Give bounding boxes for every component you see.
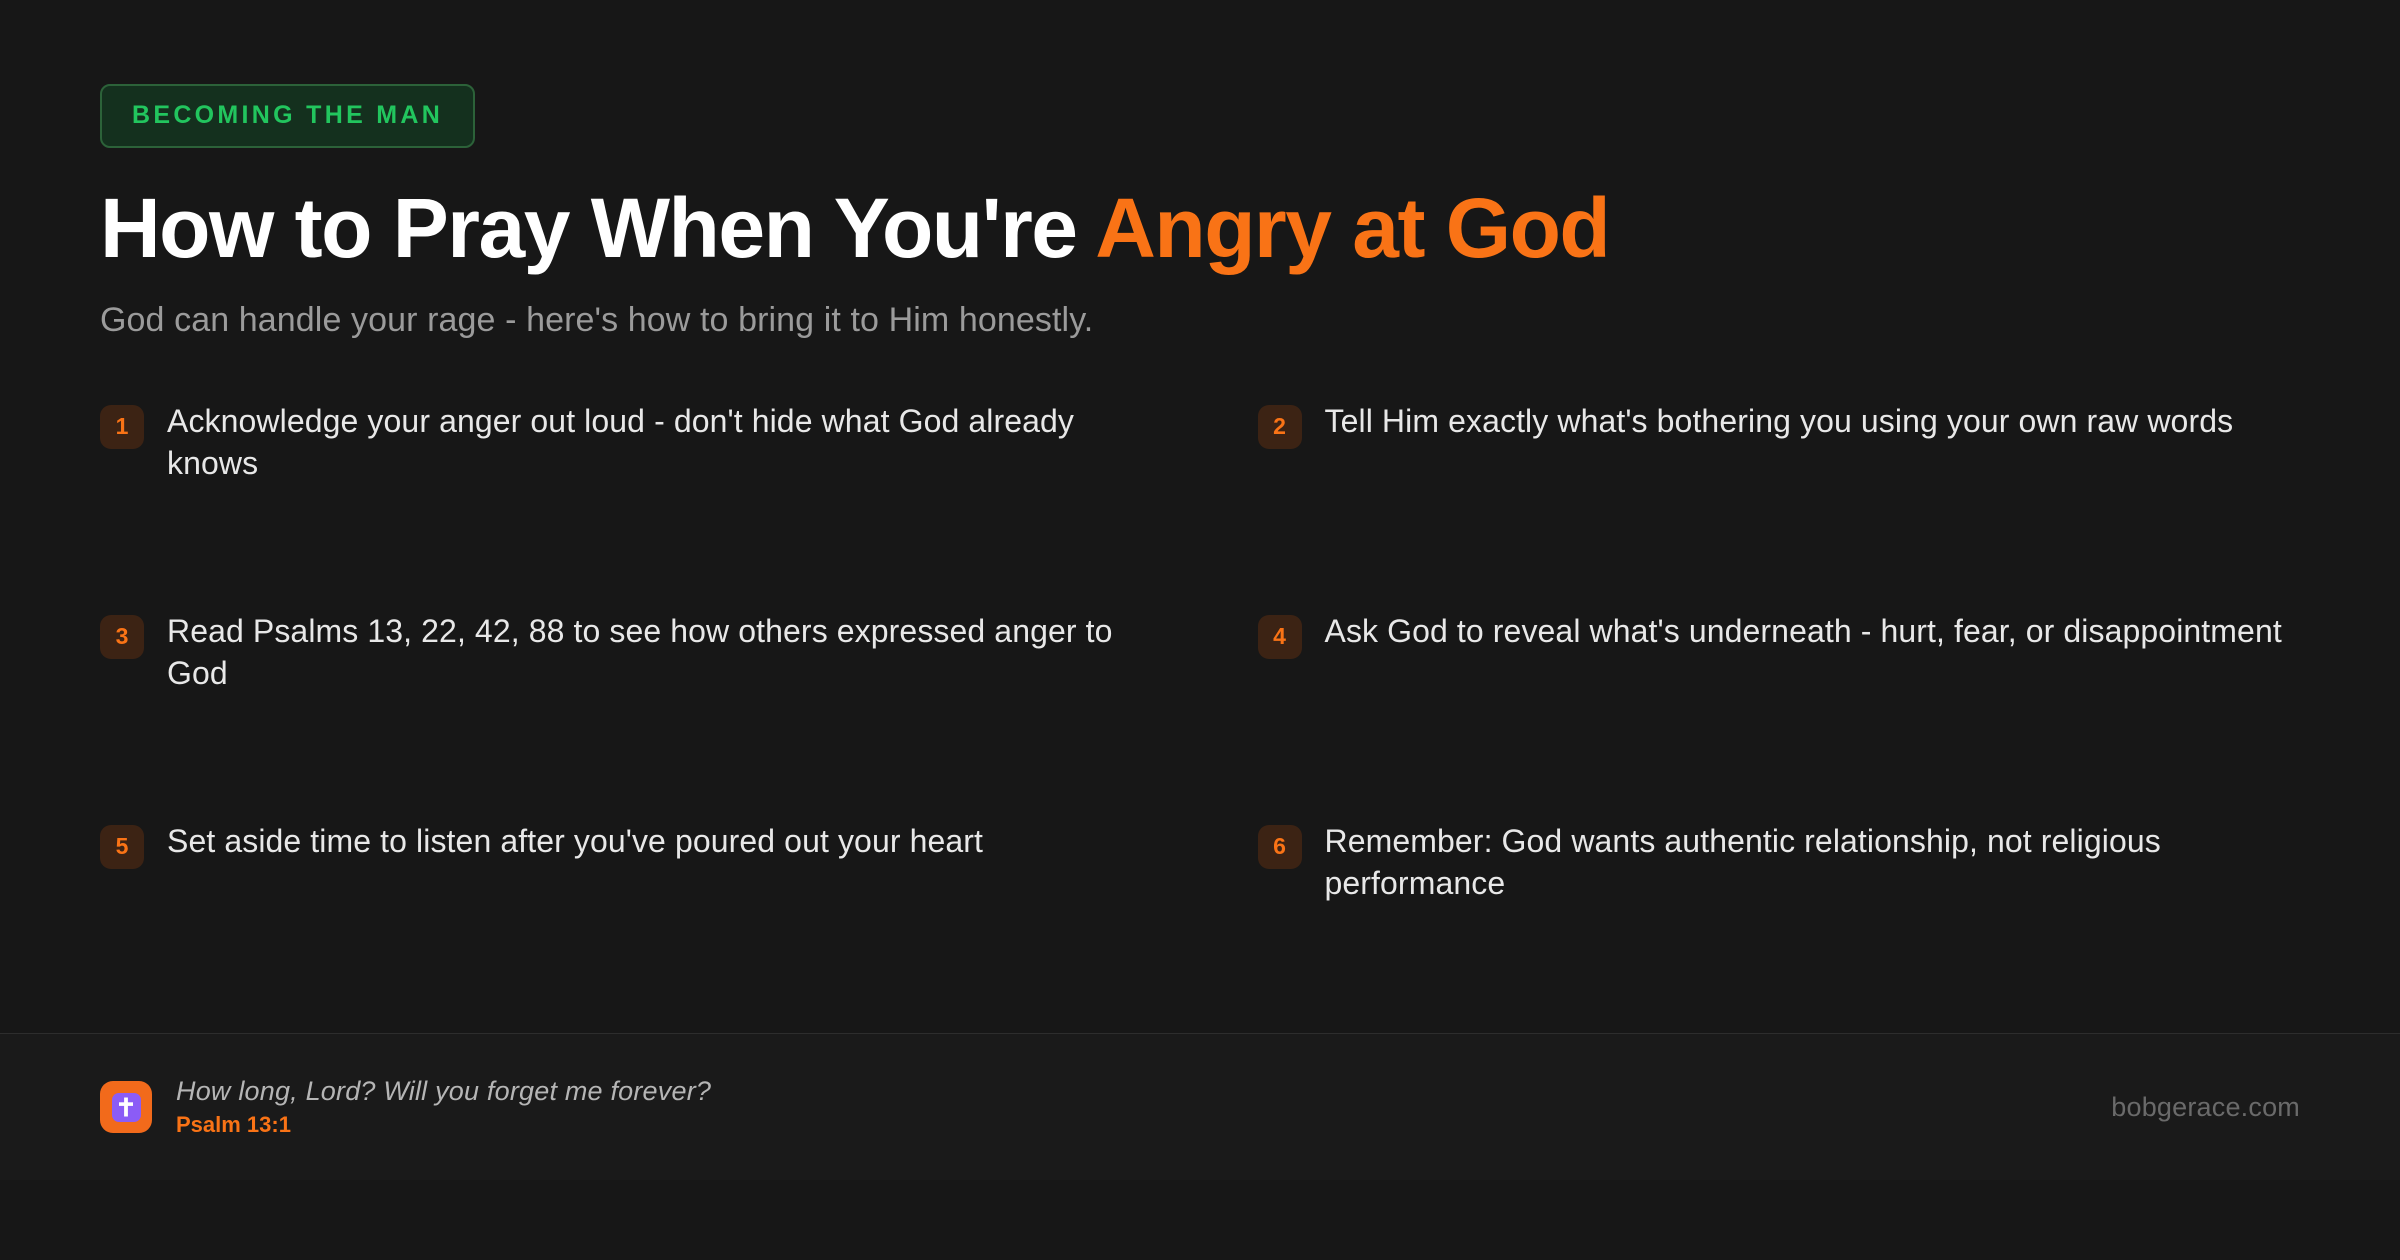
point-item: 1 Acknowledge your anger out loud - don'… [100,400,1143,610]
point-text: Set aside time to listen after you've po… [167,820,983,862]
point-number-badge: 6 [1258,825,1302,869]
point-number-badge: 3 [100,615,144,659]
quote-text: How long, Lord? Will you forget me forev… [176,1077,711,1107]
site-url: bobgerace.com [2111,1092,2300,1123]
page-title-accent: Angry at God [1095,181,1609,275]
main-content: BECOMING THE MAN How to Pray When You're… [0,0,2400,1033]
cross-icon [112,1093,141,1122]
point-text: Read Psalms 13, 22, 42, 88 to see how ot… [167,610,1143,694]
quote-block: How long, Lord? Will you forget me forev… [176,1077,711,1137]
point-number-badge: 4 [1258,615,1302,659]
slide-canvas: BECOMING THE MAN How to Pray When You're… [0,0,2400,1260]
footer-quote-group: How long, Lord? Will you forget me forev… [100,1077,711,1137]
point-text: Acknowledge your anger out loud - don't … [167,400,1143,484]
footer-bar: How long, Lord? Will you forget me forev… [0,1033,2400,1180]
point-item: 6 Remember: God wants authentic relation… [1258,820,2301,1030]
cross-icon-tile [100,1081,152,1133]
point-number-badge: 2 [1258,405,1302,449]
eyebrow-badge-label: BECOMING THE MAN [132,101,443,129]
point-text: Remember: God wants authentic relationsh… [1325,820,2301,904]
eyebrow-badge: BECOMING THE MAN [100,84,475,148]
point-number-badge: 5 [100,825,144,869]
quote-reference: Psalm 13:1 [176,1113,711,1137]
point-item: 2 Tell Him exactly what's bothering you … [1258,400,2301,610]
point-text: Tell Him exactly what's bothering you us… [1325,400,2234,442]
point-item: 4 Ask God to reveal what's underneath - … [1258,610,2301,820]
page-subtitle: God can handle your rage - here's how to… [100,298,2300,342]
points-grid: 1 Acknowledge your anger out loud - don'… [100,400,2300,1030]
point-item: 3 Read Psalms 13, 22, 42, 88 to see how … [100,610,1143,820]
point-item: 5 Set aside time to listen after you've … [100,820,1143,1030]
page-title-plain: How to Pray When You're [100,181,1095,275]
page-title: How to Pray When You're Angry at God [100,186,2300,272]
point-number-badge: 1 [100,405,144,449]
point-text: Ask God to reveal what's underneath - hu… [1325,610,2282,652]
